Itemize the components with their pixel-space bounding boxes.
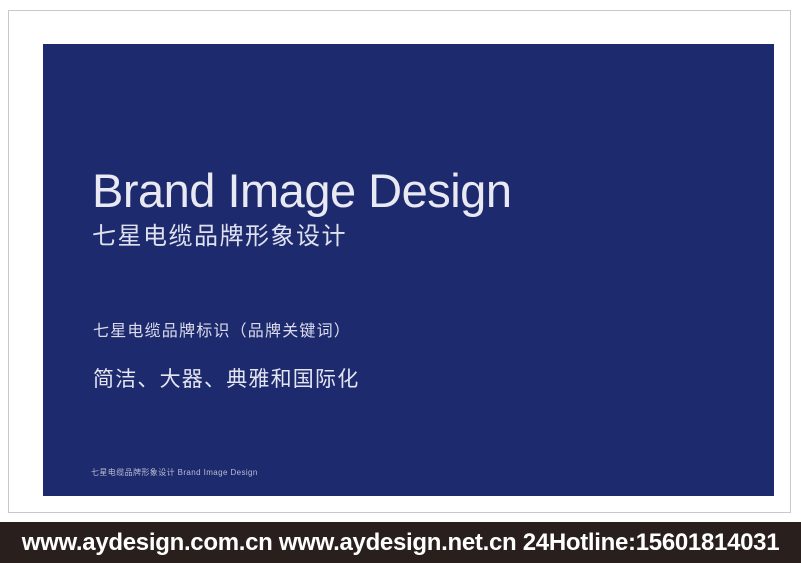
keyword-value: 简洁、大器、典雅和国际化: [93, 367, 713, 392]
keyword-block: 七星电缆品牌标识（品牌关键词） 简洁、大器、典雅和国际化: [93, 322, 713, 392]
page-subtitle: 七星电缆品牌形象设计: [92, 223, 732, 252]
bottom-contact-banner: www.aydesign.com.cn www.aydesign.net.cn …: [0, 522, 801, 563]
slide-footer-note: 七星电缆品牌形象设计 Brand Image Design: [91, 468, 258, 478]
keyword-label: 七星电缆品牌标识（品牌关键词）: [93, 322, 713, 341]
page-title: Brand Image Design: [92, 166, 732, 216]
banner-contact-text: www.aydesign.com.cn www.aydesign.net.cn …: [0, 529, 801, 557]
slide-panel: Brand Image Design 七星电缆品牌形象设计 七星电缆品牌标识（品…: [43, 44, 774, 496]
title-block: Brand Image Design 七星电缆品牌形象设计: [92, 166, 732, 252]
page-border-frame: Brand Image Design 七星电缆品牌形象设计 七星电缆品牌标识（品…: [8, 10, 791, 513]
